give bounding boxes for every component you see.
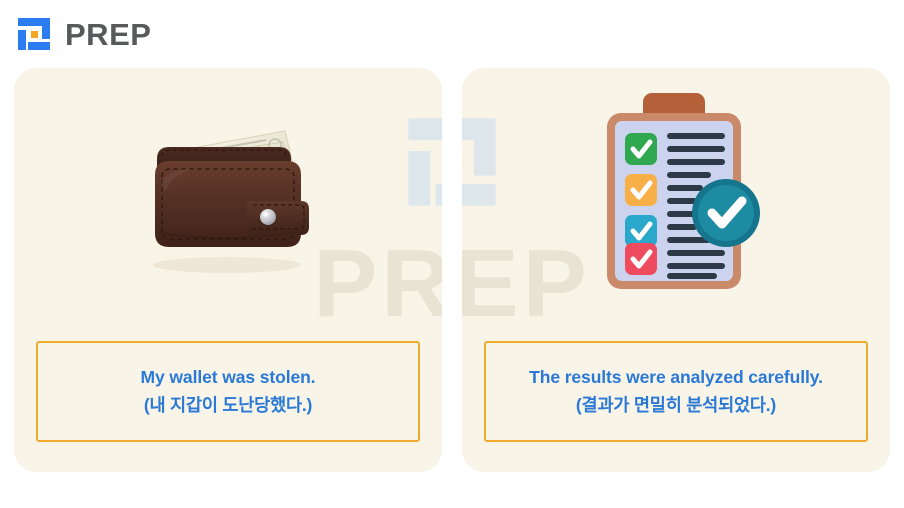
sentence-korean: (결과가 면밀히 분석되었다.) xyxy=(576,392,776,417)
approval-check-badge xyxy=(692,179,760,247)
checkbox-green xyxy=(625,133,657,165)
checkbox-red xyxy=(625,243,657,275)
sentence-english: My wallet was stolen. xyxy=(141,367,316,388)
checkbox-cyan xyxy=(625,215,657,247)
brand-header: PREP xyxy=(12,12,151,56)
card-wallet: My wallet was stolen. (내 지갑이 도난당했다.) xyxy=(14,68,442,472)
prep-logo-icon xyxy=(12,12,56,56)
checkbox-orange xyxy=(625,174,657,206)
clipboard-checklist-illustration xyxy=(462,68,890,330)
wallet-illustration xyxy=(14,68,442,330)
sentence-korean: (내 지갑이 도난당했다.) xyxy=(144,392,312,417)
card-clipboard: The results were analyzed carefully. (결과… xyxy=(462,68,890,472)
card-row: My wallet was stolen. (내 지갑이 도난당했다.) xyxy=(14,68,890,472)
sentence-box-wallet: My wallet was stolen. (내 지갑이 도난당했다.) xyxy=(36,341,420,442)
sentence-box-clipboard: The results were analyzed carefully. (결과… xyxy=(484,341,868,442)
brand-name: PREP xyxy=(65,19,151,50)
sentence-english: The results were analyzed carefully. xyxy=(529,367,823,388)
